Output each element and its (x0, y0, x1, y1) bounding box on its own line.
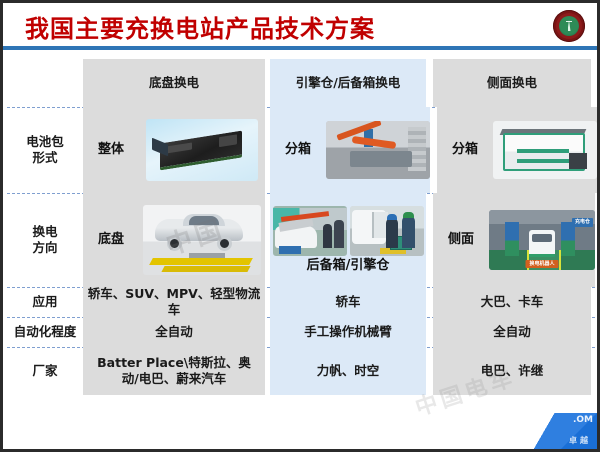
row-label-line1: 电池包 (26, 134, 64, 150)
station-band-top (517, 149, 569, 153)
image-slot (326, 121, 430, 179)
cell-label-chassis: 底盘 (83, 232, 139, 249)
cell-label-modular-right: 分箱 (437, 142, 493, 159)
photo-pillar-left (505, 222, 519, 256)
row-label-swap-direction: 换电 方向 (7, 193, 83, 287)
cell-battery-form-side: 分箱 (437, 107, 597, 193)
table-header-row: 底盘换电 引擎仓/后备箱换电 侧面换电 (7, 59, 595, 108)
cell-label-trunk-engine: 后备箱/引擎仓 (307, 258, 390, 275)
cell-application-side: 大巴、卡车 (433, 287, 591, 317)
photo-tag-charging-bay: 充电仓 (572, 218, 593, 227)
photo-person-a (334, 220, 344, 248)
row-label-application: 应用 (7, 287, 83, 317)
row-label-automation: 自动化程度 (7, 317, 83, 347)
trunk-swap-photo (350, 206, 424, 256)
cell-direction-side: 侧面 充电仓 换电机器人 (433, 193, 595, 287)
image-slot (139, 119, 265, 181)
table-row-automation: 自动化程度 全自动 手工操作机械臂 全自动 (7, 317, 595, 348)
cell-application-chassis: 轿车、SUV、MPV、轻型物流车 (83, 287, 265, 317)
cell-label-integrated: 整体 (83, 142, 139, 159)
cell-automation-chassis: 全自动 (83, 317, 265, 347)
emblem-tree-icon (566, 19, 572, 32)
page-title: 我国主要充换电站产品技术方案 (25, 9, 375, 44)
cell-battery-form-engine-trunk: 分箱 (270, 107, 430, 193)
photo-person-b (323, 224, 332, 248)
cell-battery-form-chassis: 整体 (83, 107, 265, 193)
car-wheel-front (167, 236, 182, 251)
comparison-table: 底盘换电 引擎仓/后备箱换电 侧面换电 电池包 形式 整体 (7, 59, 595, 411)
cell-direction-chassis: 底盘 (83, 193, 265, 287)
station-band-bottom (517, 159, 569, 163)
image-slot: 充电仓 换电机器人 (489, 210, 595, 270)
robot-base (350, 151, 412, 167)
car-on-lift-photo (143, 205, 261, 275)
photo-helmet-a (387, 214, 397, 220)
cell-manufacturers-engine-trunk: 力帆、时空 (270, 347, 426, 395)
row-label-line2: 形式 (26, 150, 64, 166)
table-row-manufacturers: 厂家 Batter Place\特斯拉、奥动/电巴、蔚来汽车 力帆、时空 电巴、… (7, 347, 595, 395)
table-row-swap-direction: 换电 方向 底盘 (7, 193, 595, 288)
column-header-chassis: 底盘换电 (83, 59, 265, 107)
photo-tag-swap-robot: 换电机器人 (525, 260, 558, 269)
row-label-line2: 方向 (32, 240, 57, 256)
car-window (189, 216, 219, 225)
image-slot (493, 121, 597, 179)
photo-pillar-right (561, 222, 575, 256)
row-label-line1: 换电 (32, 224, 57, 240)
corner-brand-mark: .OM 卓越 (519, 413, 597, 449)
lift-rail-lower (161, 266, 250, 272)
column-header-side: 侧面换电 (433, 59, 591, 107)
image-slot (139, 205, 265, 275)
slide-title-bar: 我国主要充换电站产品技术方案 (3, 3, 597, 49)
car-wheel-rear (217, 236, 232, 251)
robot-arm-photo (326, 121, 430, 179)
corner-brand-text: 卓越 (569, 435, 591, 446)
row-label-manufacturers: 厂家 (7, 347, 83, 395)
swap-station-module-photo (493, 121, 597, 179)
battery-pack-body (160, 131, 242, 171)
photo-helmet-b (403, 212, 414, 218)
table-row-application: 应用 轿车、SUV、MPV、轻型物流车 轿车 大巴、卡车 (7, 287, 595, 318)
row-label-empty (7, 59, 83, 107)
bus-side-swap-photo: 充电仓 换电机器人 (489, 210, 595, 270)
engine-bay-swap-photo (273, 206, 347, 256)
battery-pack-photo (146, 119, 258, 181)
photo-worker-b (402, 216, 415, 248)
cell-automation-engine-trunk: 手工操作机械臂 (270, 317, 426, 347)
cell-application-engine-trunk: 轿车 (270, 287, 426, 317)
photo-worker-a (386, 218, 398, 248)
row-label-battery-form: 电池包 形式 (7, 107, 83, 193)
presentation-slide: 我国主要充换电站产品技术方案 底盘换电 引擎仓/后备箱换电 侧面换电 电池包 形… (0, 0, 600, 452)
title-divider (3, 46, 597, 50)
cell-label-side: 侧面 (433, 232, 489, 249)
cell-label-modular-mid: 分箱 (270, 142, 326, 159)
station-door (569, 153, 587, 169)
lift-rail-upper (149, 258, 253, 265)
corner-domain-text: .OM (573, 415, 593, 425)
cell-direction-engine-trunk: 后备箱/引擎仓 (270, 193, 426, 287)
column-header-engine-trunk: 引擎仓/后备箱换电 (270, 59, 426, 107)
organization-emblem-icon (553, 10, 585, 42)
cell-automation-side: 全自动 (433, 317, 591, 347)
cell-manufacturers-chassis: Batter Place\特斯拉、奥动/电巴、蔚来汽车 (83, 347, 265, 395)
cell-manufacturers-side: 电巴、许继 (433, 347, 591, 395)
photo-bus-windshield (532, 234, 552, 242)
photo-blue-panel (279, 246, 301, 254)
table-row-battery-form: 电池包 形式 整体 分箱 (7, 107, 595, 194)
image-pair (273, 206, 424, 256)
